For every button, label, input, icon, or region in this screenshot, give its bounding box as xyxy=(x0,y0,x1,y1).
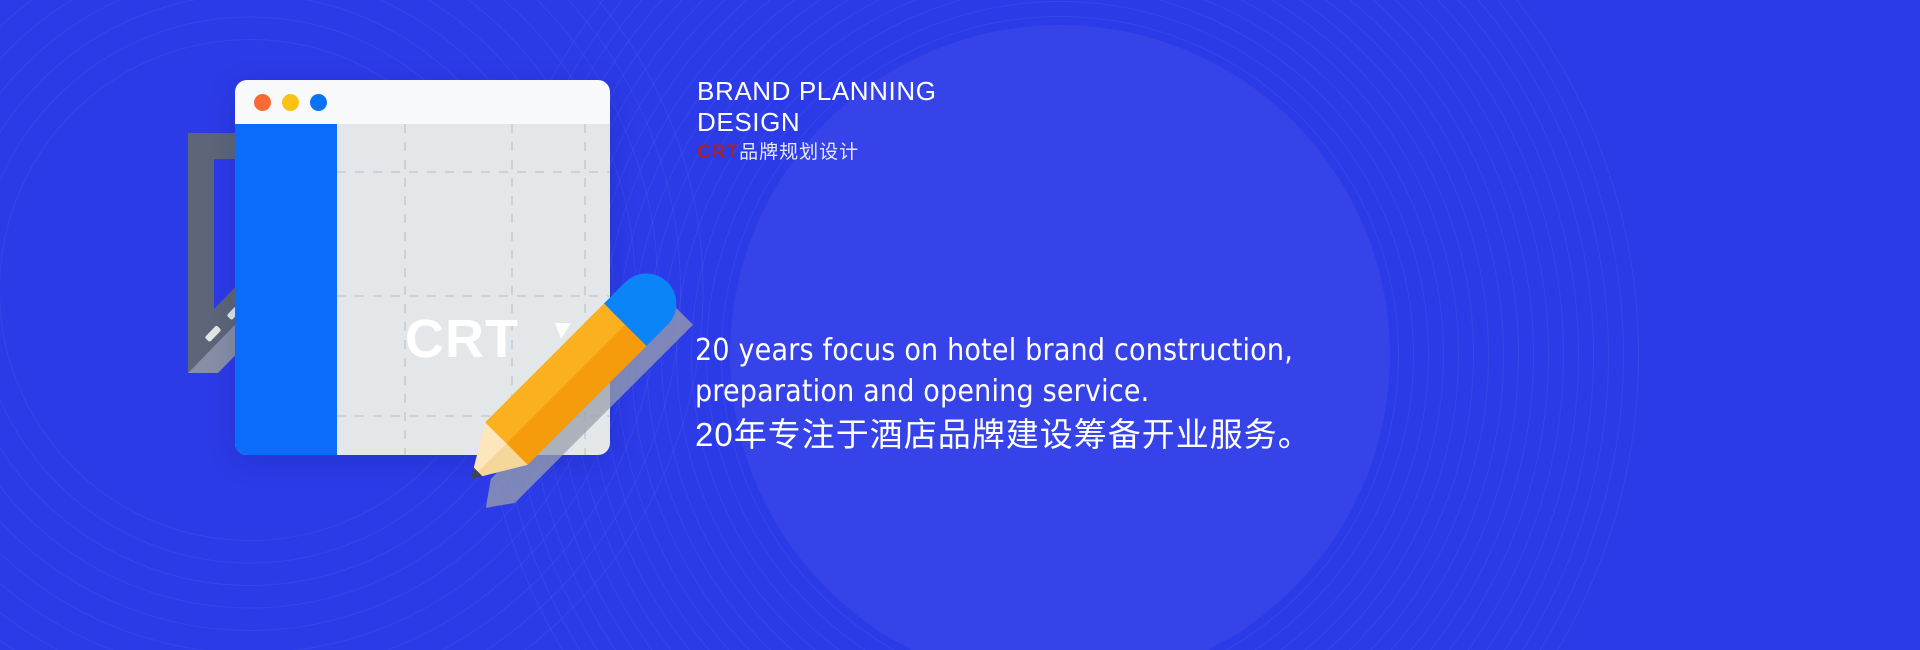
hero-banner: CRT xyxy=(0,0,1920,650)
card-accent-strip xyxy=(235,124,337,455)
headline-title: BRAND PLANNING DESIGN xyxy=(697,76,1217,138)
maximize-dot-icon[interactable] xyxy=(310,94,327,111)
brand-abbreviation: CRT xyxy=(697,142,739,163)
close-dot-icon[interactable] xyxy=(254,94,271,111)
brand-design-illustration: CRT xyxy=(180,60,700,480)
subtitle-line: CRT品牌规划设计 xyxy=(697,140,1257,166)
pencil-icon xyxy=(425,225,715,515)
minimize-dot-icon[interactable] xyxy=(282,94,299,111)
window-title-bar xyxy=(235,80,610,124)
subtitle-text: 品牌规划设计 xyxy=(739,142,859,163)
tagline-english: 20 years focus on hotel brand constructi… xyxy=(695,330,1395,412)
tagline-chinese: 20年专注于酒店品牌建设筹备开业服务。 xyxy=(695,412,1415,458)
